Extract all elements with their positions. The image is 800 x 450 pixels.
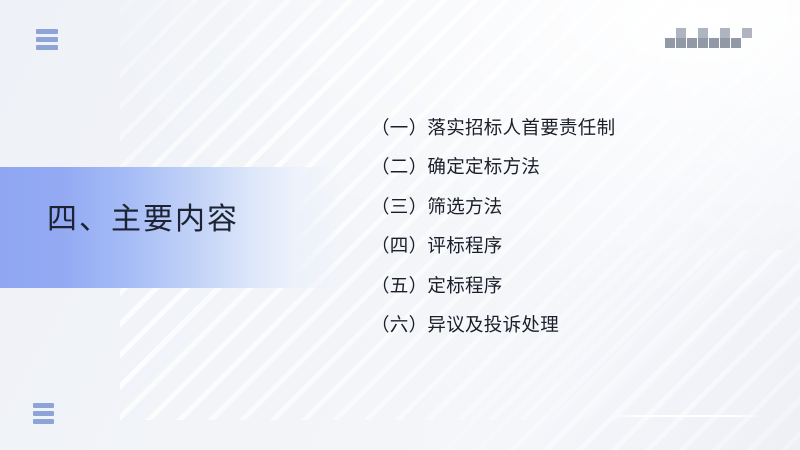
checker-square bbox=[665, 38, 675, 48]
content-list: （一）落实招标人首要责任制 （二）确定定标方法 （三）筛选方法 （四）评标程序 … bbox=[371, 108, 771, 344]
checker-square bbox=[742, 28, 752, 38]
slide-canvas: 四、主要内容 （一）落实招标人首要责任制 （二）确定定标方法 （三）筛选方法 （… bbox=[0, 0, 800, 450]
bar-segment bbox=[33, 419, 54, 424]
list-item: （六）异议及投诉处理 bbox=[371, 305, 771, 344]
list-item: （五）定标程序 bbox=[371, 266, 771, 305]
checker-square bbox=[687, 38, 697, 48]
checker-square bbox=[698, 38, 708, 48]
three-bars-icon bbox=[33, 403, 54, 424]
checker-square bbox=[720, 38, 730, 48]
checker-square bbox=[698, 28, 708, 38]
list-item: （一）落实招标人首要责任制 bbox=[371, 108, 771, 147]
three-bars-icon bbox=[36, 29, 58, 50]
checker-square bbox=[709, 38, 719, 48]
bar-segment bbox=[33, 403, 54, 408]
checker-square bbox=[676, 28, 686, 38]
page-title: 四、主要内容 bbox=[47, 205, 239, 235]
bar-segment bbox=[36, 29, 58, 34]
list-item: （三）筛选方法 bbox=[371, 187, 771, 226]
bar-segment bbox=[33, 411, 54, 416]
list-item: （四）评标程序 bbox=[371, 226, 771, 265]
accent-line bbox=[613, 415, 761, 417]
checker-zigzag-icon bbox=[665, 27, 753, 49]
bar-segment bbox=[36, 37, 58, 42]
checker-square bbox=[731, 38, 741, 48]
checker-square bbox=[720, 28, 730, 38]
bar-segment bbox=[36, 45, 58, 50]
list-item: （二）确定定标方法 bbox=[371, 147, 771, 186]
checker-square bbox=[676, 38, 686, 48]
